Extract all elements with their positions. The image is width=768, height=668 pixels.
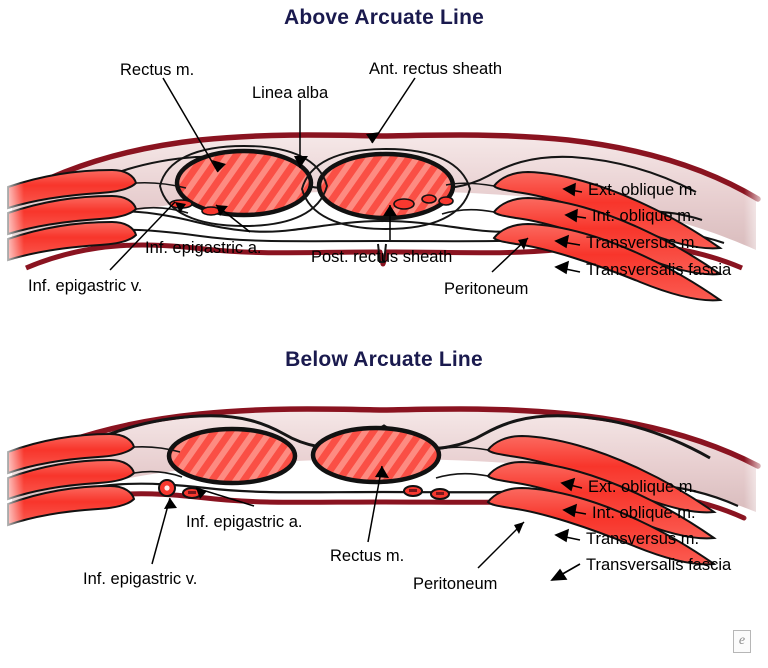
label-rectus-m: Rectus m. xyxy=(120,62,194,79)
label-peritoneum: Peritoneum xyxy=(444,281,528,298)
label-inf-epigastric-v-below: Inf. epigastric v. xyxy=(83,571,197,588)
panel-above-arcuate-line: Above Arcuate Line xyxy=(0,0,768,340)
label-transversalis-fascia-below: Transversalis fascia xyxy=(586,557,731,574)
anatomy-figure: Above Arcuate Line xyxy=(0,0,768,668)
rectus-muscle-right-below xyxy=(313,428,439,482)
label-linea-alba: Linea alba xyxy=(252,85,328,102)
panel-below-arcuate-line: Below Arcuate Line xyxy=(0,336,768,636)
label-rectus-m-below: Rectus m. xyxy=(330,548,404,565)
label-inf-epigastric-v: Inf. epigastric v. xyxy=(28,278,142,295)
label-int-oblique-m: Int. oblique m. xyxy=(592,208,696,225)
rectus-muscle-left-above xyxy=(177,151,311,215)
label-int-oblique-m-below: Int. oblique m. xyxy=(592,505,696,522)
rectus-muscle-right-above xyxy=(319,154,453,218)
rectus-muscle-left-below xyxy=(169,429,295,483)
watermark-logo: e xyxy=(733,630,751,653)
label-post-rectus-sheath: Post. rectus sheath xyxy=(311,249,452,266)
label-ext-oblique-m-below: Ext. oblique m. xyxy=(588,479,697,496)
label-inf-epigastric-a: Inf. epigastric a. xyxy=(145,240,261,257)
label-peritoneum-below: Peritoneum xyxy=(413,576,497,593)
label-transversus-m-below: Transversus m. xyxy=(586,531,699,548)
label-transversalis-fascia: Transversalis fascia xyxy=(586,262,731,279)
label-ant-rectus-sheath: Ant. rectus sheath xyxy=(369,61,502,78)
label-ext-oblique-m: Ext. oblique m. xyxy=(588,182,697,199)
lateral-muscle-bands-left-below xyxy=(8,434,182,525)
label-inf-epigastric-a-below: Inf. epigastric a. xyxy=(186,514,302,531)
label-transversus-m: Transversus m. xyxy=(586,235,699,252)
